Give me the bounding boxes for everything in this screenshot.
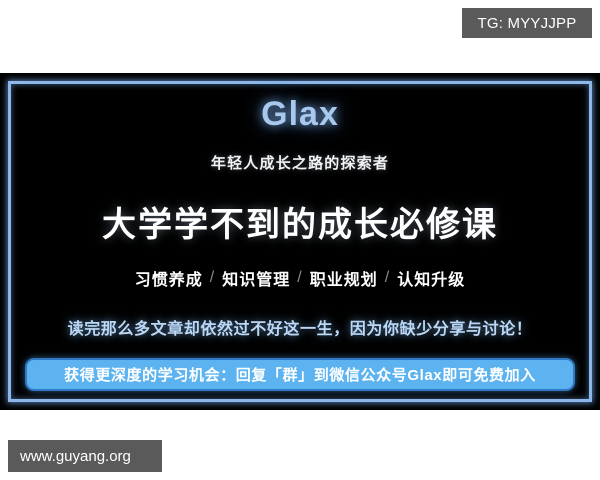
site-watermark: www.guyang.org (8, 440, 162, 472)
keyword-item: 知识管理 (222, 266, 290, 290)
join-group-cta-button[interactable]: 获得更深度的学习机会：回复「群」到微信公众号Glax即可免费加入 (25, 358, 575, 391)
keyword-item: 习惯养成 (135, 266, 203, 290)
keyword-list: 习惯养成 / 知识管理 / 职业规划 / 认知升级 (135, 266, 465, 290)
poster-content: Glax 年轻人成长之路的探索者 大学学不到的成长必修课 习惯养成 / 知识管理… (11, 84, 589, 399)
keyword-separator: / (210, 269, 215, 287)
keyword-item: 职业规划 (310, 266, 378, 290)
promo-poster: Glax 年轻人成长之路的探索者 大学学不到的成长必修课 习惯养成 / 知识管理… (0, 73, 600, 410)
brand-subtitle: 年轻人成长之路的探索者 (211, 152, 389, 173)
join-group-cta-label: 获得更深度的学习机会：回复「群」到微信公众号Glax即可免费加入 (64, 364, 536, 385)
keyword-separator: / (385, 269, 390, 287)
keyword-item: 认知升级 (397, 266, 465, 290)
poster-tagline: 读完那么多文章却依然过不好这一生，因为你缺少分享与讨论！ (68, 315, 533, 339)
keyword-separator: / (297, 269, 302, 287)
poster-headline: 大学学不到的成长必修课 (102, 207, 498, 244)
site-watermark-label: www.guyang.org (20, 448, 131, 465)
brand-title: Glax (261, 97, 339, 131)
telegram-handle-label: TG: MYYJJPP (478, 15, 577, 32)
telegram-handle-badge: TG: MYYJJPP (462, 8, 592, 38)
